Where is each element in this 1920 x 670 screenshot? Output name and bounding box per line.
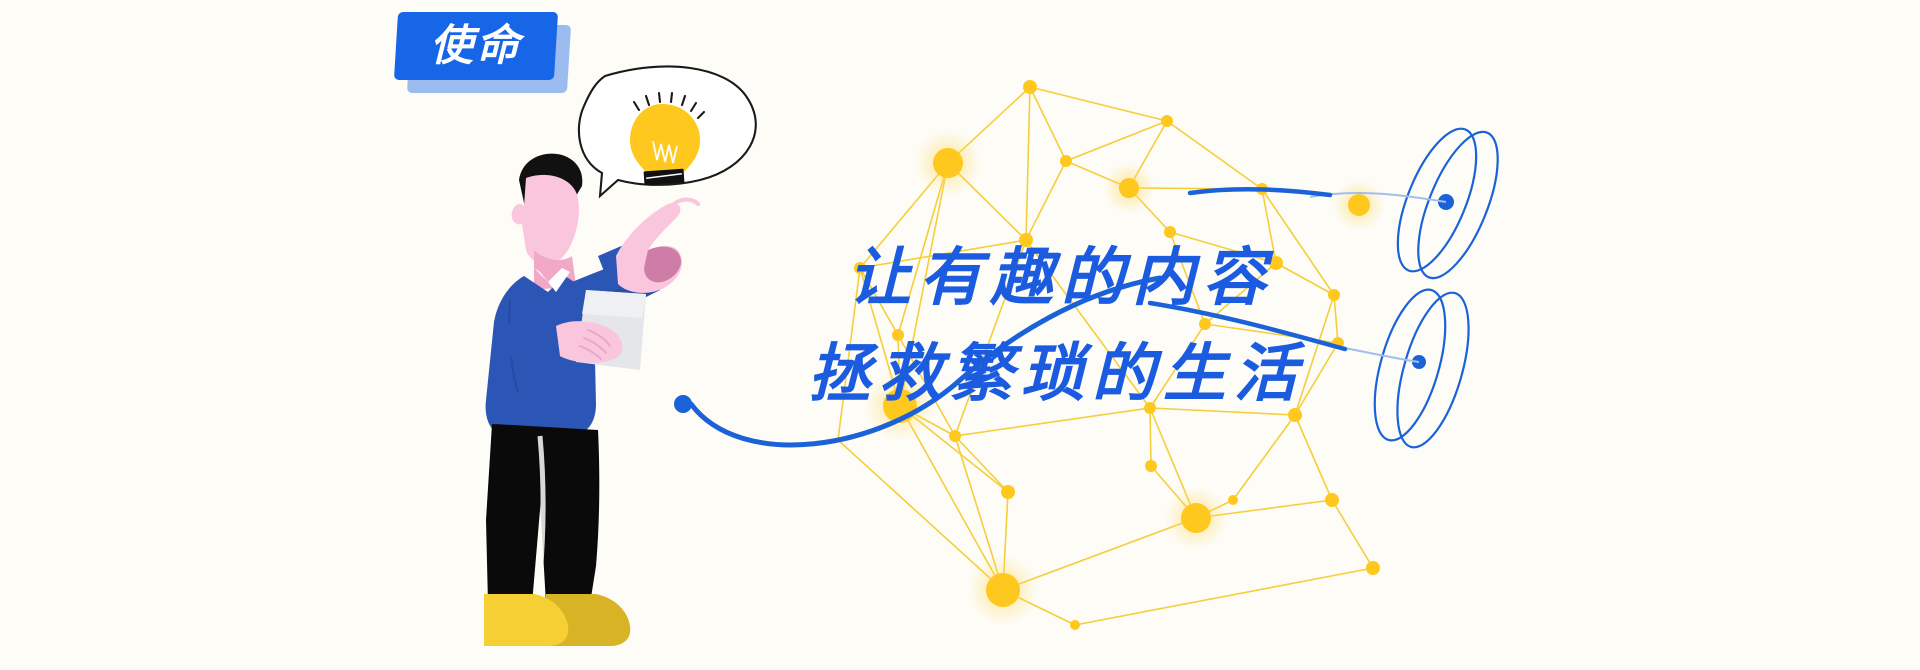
mission-badge[interactable]: 使命 (396, 12, 572, 94)
badge-face: 使命 (394, 12, 558, 80)
badge-layer: 使命 (0, 0, 1920, 670)
badge-label: 使命 (430, 25, 522, 68)
mission-banner: 让有趣的内容 拯救繁琐的生活 使命 (0, 0, 1920, 670)
